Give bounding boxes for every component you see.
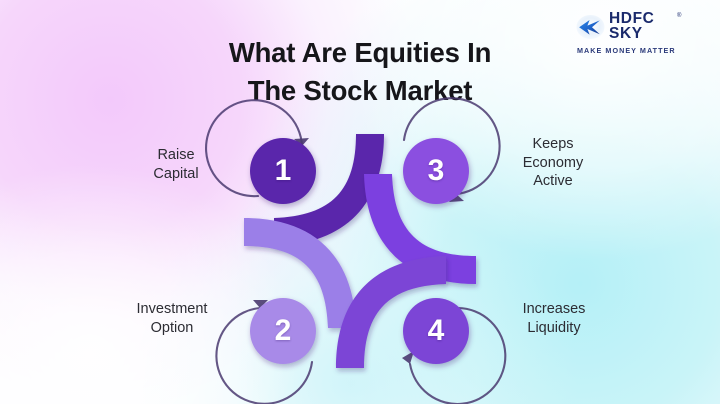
- cycle-node-4[interactable]: [403, 298, 469, 364]
- cycle-node-3[interactable]: [403, 138, 469, 204]
- brand-wordmark: HDFC SKY: [609, 12, 654, 42]
- cycle-node-1[interactable]: [250, 138, 316, 204]
- cycle-label-raise-capital: Raise Capital: [124, 146, 228, 183]
- cycle-label-investment-option: Investment Option: [112, 300, 232, 337]
- infographic-canvas: What Are Equities In The Stock Market: [0, 0, 720, 404]
- hdfc-sky-arrow-icon: [576, 14, 606, 41]
- brand-logo: HDFC SKY ® MAKE MONEY MATTER: [576, 13, 692, 60]
- cycle-node-2[interactable]: [250, 298, 316, 364]
- pinwheel-cycle-diagram: 1 3 2 4: [228, 118, 492, 384]
- cycle-label-increases-liquidity: Increases Liquidity: [498, 300, 610, 337]
- registered-trademark-icon: ®: [677, 13, 681, 19]
- cycle-label-keeps-economy-active: Keeps Economy Active: [498, 135, 608, 191]
- brand-tagline: MAKE MONEY MATTER: [577, 46, 676, 55]
